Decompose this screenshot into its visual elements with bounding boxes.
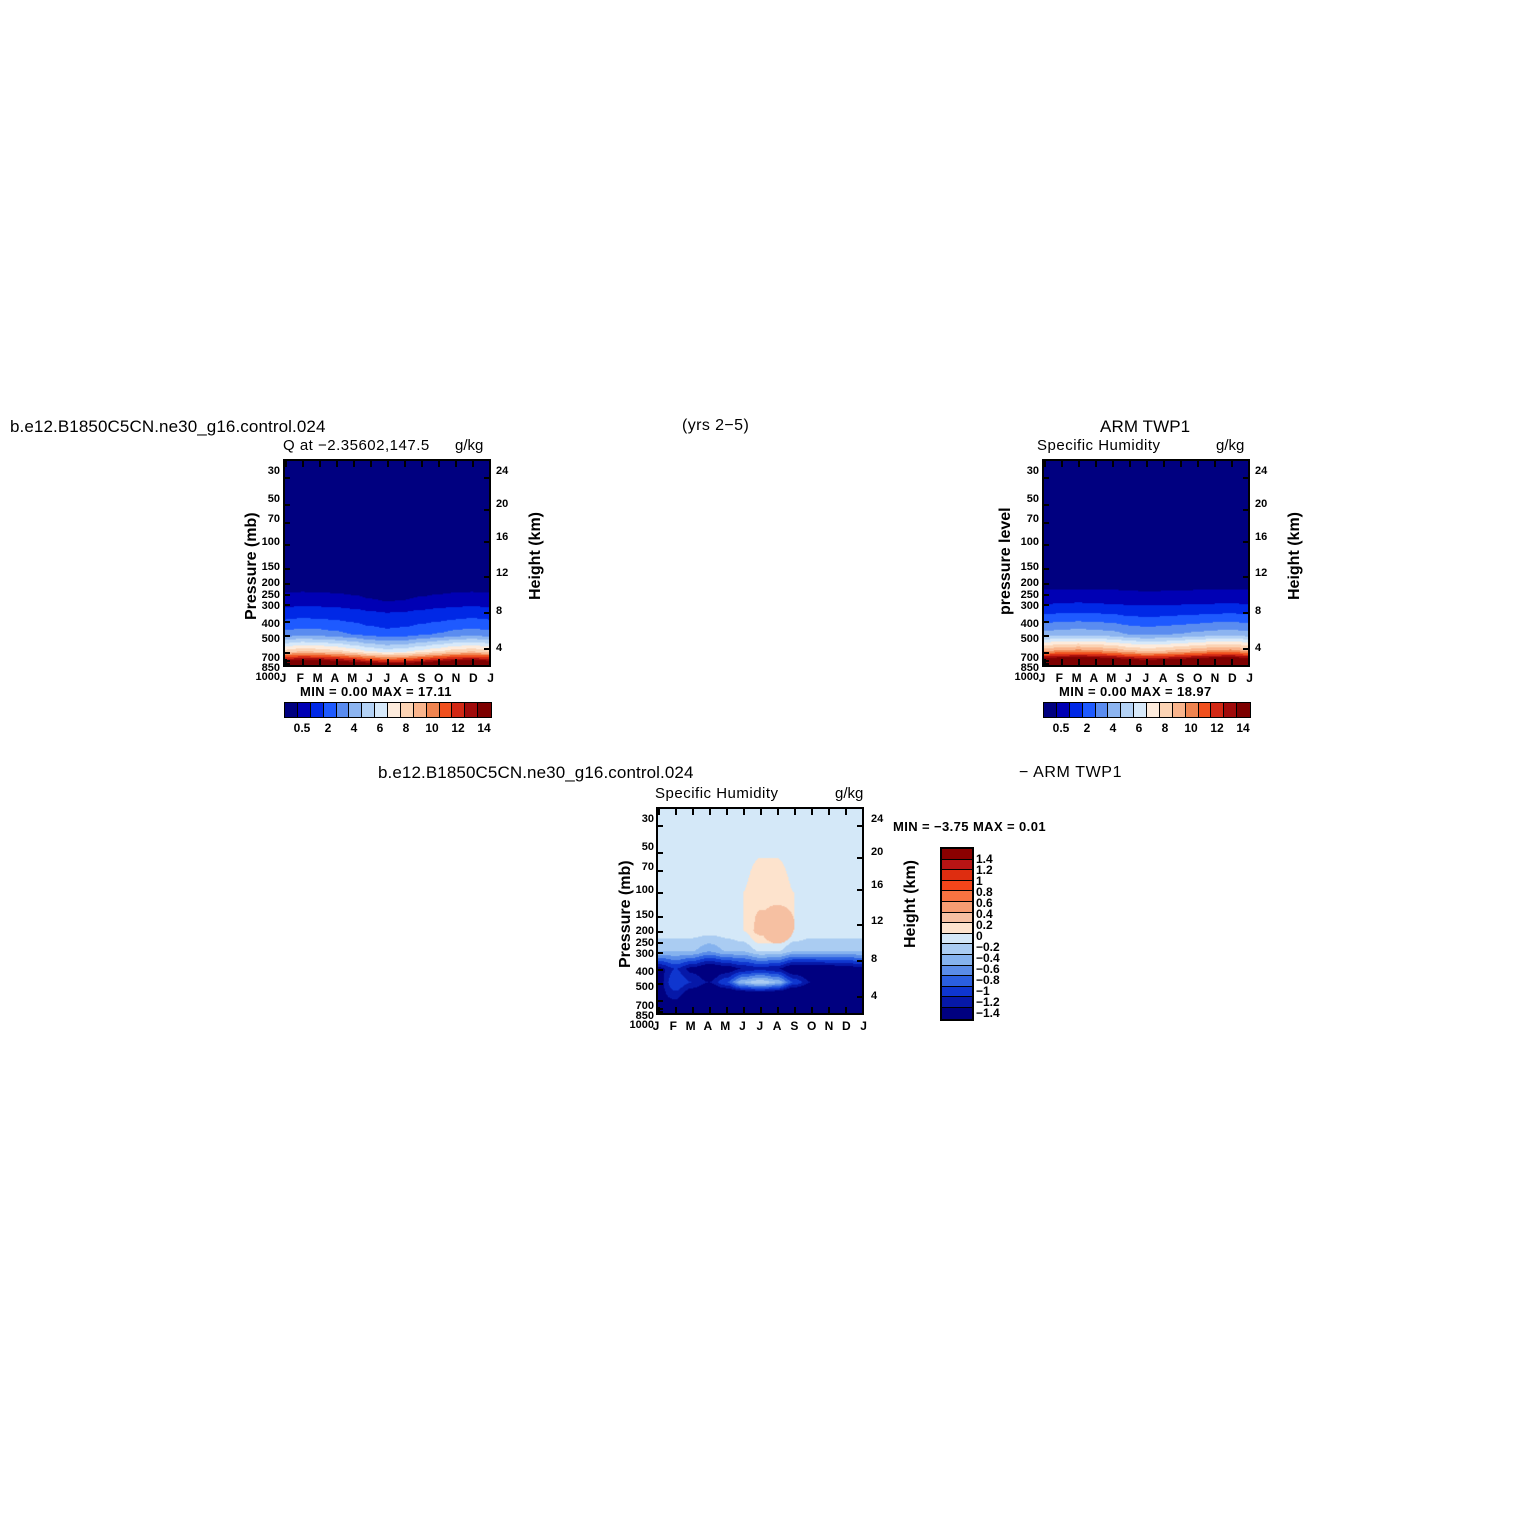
axis-tick-mark — [828, 809, 830, 815]
axis-tick: 100 — [636, 884, 654, 896]
axis-tick-mark — [1129, 659, 1131, 665]
axis-tick-mark — [455, 461, 457, 467]
axis-tick-mark — [845, 809, 847, 815]
colorbar-swatch — [478, 703, 491, 717]
axis-tick-mark — [675, 1007, 677, 1013]
month-label: F — [667, 1019, 679, 1033]
axis-tick-mark — [658, 809, 660, 815]
axis-tick-mark — [1044, 504, 1049, 506]
colorbar-swatch — [1211, 703, 1224, 717]
axis-tick: 24 — [496, 465, 508, 477]
axis-tick-mark — [1044, 663, 1049, 665]
axis-tick-mark — [285, 568, 290, 570]
month-label: J — [754, 1019, 766, 1033]
axis-tick-mark — [726, 1007, 728, 1013]
axis-tick: 20 — [871, 846, 883, 858]
obs-contour-canvas — [1044, 461, 1248, 665]
obs-minmax-text: MIN = 0.00 MAX = 18.97 — [1059, 684, 1212, 699]
axis-tick-mark — [1044, 652, 1049, 654]
axis-tick: 150 — [262, 561, 280, 573]
colorbar-swatch — [942, 944, 972, 955]
axis-tick-mark — [857, 825, 862, 827]
axis-tick-mark — [1243, 541, 1248, 543]
cbar-tick: 0.5 — [1049, 721, 1073, 735]
axis-tick-mark — [658, 1008, 663, 1010]
axis-tick-mark — [1044, 635, 1049, 637]
axis-tick: 50 — [268, 493, 280, 505]
diff-field-title: Specific Humidity — [655, 785, 779, 802]
diff-colorbar[interactable] — [940, 847, 974, 1021]
colorbar-swatch — [440, 703, 453, 717]
cbar-tick: 6 — [1127, 721, 1151, 735]
month-label: A — [1088, 671, 1100, 685]
month-label: A — [329, 671, 341, 685]
axis-tick: 500 — [636, 981, 654, 993]
colorbar-swatch — [1070, 703, 1083, 717]
axis-tick-mark — [484, 477, 489, 479]
axis-tick-mark — [845, 1007, 847, 1013]
colorbar-swatch — [427, 703, 440, 717]
colorbar-swatch — [942, 955, 972, 966]
axis-tick-mark — [285, 583, 290, 585]
axis-tick-mark — [438, 659, 440, 665]
axis-tick-mark — [692, 809, 694, 815]
axis-tick-mark — [1044, 461, 1046, 467]
colorbar-swatch — [1057, 703, 1070, 717]
month-label: J — [650, 1019, 662, 1033]
axis-tick: 30 — [1027, 465, 1039, 477]
axis-tick-mark — [794, 1007, 796, 1013]
axis-tick: 300 — [636, 948, 654, 960]
axis-tick-mark — [1197, 461, 1199, 467]
cbar-tick: 10 — [1179, 721, 1203, 735]
axis-tick-mark — [387, 659, 389, 665]
colorbar-swatch — [375, 703, 388, 717]
cbar-tick: 10 — [420, 721, 444, 735]
axis-tick-mark — [857, 960, 862, 962]
cbar-tick: 2 — [1075, 721, 1099, 735]
axis-tick-mark — [353, 659, 355, 665]
month-label: J — [364, 671, 376, 685]
axis-tick-mark — [857, 924, 862, 926]
month-label: A — [771, 1019, 783, 1033]
month-label: J — [381, 671, 393, 685]
cbar-tick: 6 — [368, 721, 392, 735]
month-label: O — [1192, 671, 1204, 685]
cbar-tick: 14 — [1231, 721, 1255, 735]
cbar-tick: 2 — [316, 721, 340, 735]
model-colorbar[interactable] — [284, 702, 492, 718]
model-height-axis: 24 20 16 12 8 4 — [496, 455, 526, 670]
cbar-tick: 4 — [342, 721, 366, 735]
axis-tick-mark — [336, 461, 338, 467]
axis-tick-mark — [1112, 659, 1114, 665]
colorbar-swatch — [337, 703, 350, 717]
axis-tick-mark — [1214, 659, 1216, 665]
axis-tick: 12 — [496, 567, 508, 579]
axis-tick-mark — [658, 942, 663, 944]
diff-height-axis: 24 20 16 12 8 4 — [871, 803, 901, 1018]
axis-tick-mark — [1248, 659, 1250, 665]
axis-tick-mark — [302, 461, 304, 467]
axis-tick-mark — [658, 1000, 663, 1002]
axis-tick-mark — [404, 659, 406, 665]
colorbar-swatch — [942, 881, 972, 892]
axis-tick-mark — [285, 635, 290, 637]
axis-tick-mark — [370, 461, 372, 467]
month-label: J — [1036, 671, 1048, 685]
axis-tick-mark — [484, 509, 489, 511]
colorbar-swatch — [452, 703, 465, 717]
axis-tick: 400 — [262, 618, 280, 630]
colorbar-swatch — [1121, 703, 1134, 717]
cbar-tick: 8 — [394, 721, 418, 735]
cbar-tick: 14 — [472, 721, 496, 735]
axis-tick-mark — [285, 461, 287, 467]
axis-tick-mark — [1061, 461, 1063, 467]
axis-tick: 100 — [262, 536, 280, 548]
colorbar-swatch — [362, 703, 375, 717]
axis-tick-mark — [1243, 576, 1248, 578]
axis-tick-mark — [285, 604, 290, 606]
model-units-label: g/kg — [455, 437, 483, 454]
axis-tick: 200 — [262, 577, 280, 589]
diff-plot-area[interactable] — [656, 807, 864, 1015]
axis-tick: 50 — [1027, 493, 1039, 505]
axis-tick-mark — [285, 652, 290, 654]
axis-tick: 30 — [268, 465, 280, 477]
diff-contour-canvas — [658, 809, 862, 1013]
month-label: O — [433, 671, 445, 685]
colorbar-swatch — [942, 870, 972, 881]
colorbar-swatch — [1160, 703, 1173, 717]
month-label: A — [398, 671, 410, 685]
obs-plot-area[interactable] — [1042, 459, 1250, 667]
model-ylabel-right: Height (km) — [527, 512, 545, 600]
axis-tick: 200 — [636, 925, 654, 937]
model-contour-canvas — [285, 461, 489, 665]
axis-tick-mark — [1044, 583, 1049, 585]
axis-tick-mark — [421, 461, 423, 467]
month-label: A — [1157, 671, 1169, 685]
axis-tick-mark — [1129, 461, 1131, 467]
axis-tick-mark — [285, 477, 290, 479]
colorbar-swatch — [311, 703, 324, 717]
axis-tick-mark — [1044, 522, 1049, 524]
axis-tick-mark — [857, 996, 862, 998]
axis-tick: 300 — [1021, 600, 1039, 612]
axis-tick-mark — [658, 852, 663, 854]
month-label: S — [415, 671, 427, 685]
axis-tick: 8 — [496, 605, 502, 617]
axis-tick-mark — [472, 659, 474, 665]
colorbar-swatch — [1147, 703, 1160, 717]
axis-tick-mark — [1243, 648, 1248, 650]
model-case-title: b.e12.B1850C5CN.ne30_g16.control.024 — [10, 417, 326, 437]
diff-units-label: g/kg — [835, 785, 863, 802]
axis-tick-mark — [370, 659, 372, 665]
month-label: M — [1105, 671, 1117, 685]
axis-tick-mark — [743, 1007, 745, 1013]
colorbar-swatch — [1237, 703, 1250, 717]
axis-tick-mark — [658, 1011, 663, 1013]
month-label: D — [840, 1019, 852, 1033]
axis-tick-mark — [1044, 621, 1049, 623]
axis-tick: 500 — [262, 633, 280, 645]
axis-tick-mark — [489, 461, 491, 467]
axis-tick-mark — [658, 931, 663, 933]
axis-tick: 12 — [871, 915, 883, 927]
axis-tick: 400 — [1021, 618, 1039, 630]
axis-tick-mark — [336, 659, 338, 665]
colorbar-swatch — [285, 703, 298, 717]
month-label: J — [1244, 671, 1256, 685]
axis-tick-mark — [658, 892, 663, 894]
axis-tick: 24 — [1255, 465, 1267, 477]
colorbar-swatch — [1134, 703, 1147, 717]
axis-tick-mark — [777, 809, 779, 815]
month-label: M — [685, 1019, 697, 1033]
axis-tick-mark — [760, 1007, 762, 1013]
axis-tick-mark — [1180, 461, 1182, 467]
axis-tick: 16 — [871, 879, 883, 891]
obs-colorbar[interactable] — [1043, 702, 1251, 718]
cbar-tick: 0.5 — [290, 721, 314, 735]
colorbar-swatch — [465, 703, 478, 717]
axis-tick: 16 — [1255, 531, 1267, 543]
axis-tick-mark — [455, 659, 457, 665]
month-label: J — [1140, 671, 1152, 685]
colorbar-swatch — [942, 934, 972, 945]
axis-tick-mark — [862, 1007, 864, 1013]
axis-tick-mark — [857, 889, 862, 891]
axis-tick: 4 — [496, 642, 502, 654]
axis-tick-mark — [1197, 659, 1199, 665]
axis-tick-mark — [828, 1007, 830, 1013]
axis-tick-mark — [1248, 461, 1250, 467]
axis-tick-mark — [1231, 461, 1233, 467]
model-field-title: Q at −2.35602,147.5 — [283, 437, 430, 454]
colorbar-swatch — [1199, 703, 1212, 717]
axis-tick: 500 — [1021, 633, 1039, 645]
axis-tick-mark — [1180, 659, 1182, 665]
model-pressure-axis: 30 50 70 100 150 200 250 300 400 500 700… — [248, 455, 280, 670]
axis-tick: 8 — [871, 953, 877, 965]
diff-case-title: b.e12.B1850C5CN.ne30_g16.control.024 — [378, 763, 694, 783]
colorbar-swatch — [1083, 703, 1096, 717]
axis-tick-mark — [811, 809, 813, 815]
axis-tick-mark — [658, 870, 663, 872]
axis-tick: 4 — [1255, 642, 1261, 654]
colorbar-swatch — [1096, 703, 1109, 717]
month-label: N — [1209, 671, 1221, 685]
diff-pressure-axis: 30 50 70 100 150 200 250 300 400 500 700… — [622, 803, 654, 1018]
axis-tick-mark — [726, 809, 728, 815]
axis-tick-mark — [709, 809, 711, 815]
axis-tick-mark — [658, 969, 663, 971]
month-label: S — [1174, 671, 1186, 685]
axis-tick-mark — [1112, 461, 1114, 467]
cbar-tick: 8 — [1153, 721, 1177, 735]
axis-tick-mark — [285, 621, 290, 623]
month-label: N — [450, 671, 462, 685]
month-label: M — [346, 671, 358, 685]
axis-tick-mark — [658, 825, 663, 827]
month-label: A — [702, 1019, 714, 1033]
axis-tick-mark — [319, 659, 321, 665]
month-label: J — [1123, 671, 1135, 685]
month-label: S — [788, 1019, 800, 1033]
axis-tick-mark — [862, 809, 864, 815]
diff-ylabel-right: Height (km) — [902, 860, 920, 948]
axis-tick: 50 — [642, 841, 654, 853]
axis-tick-mark — [285, 660, 290, 662]
axis-tick-mark — [285, 544, 290, 546]
cbar-tick: 12 — [1205, 721, 1229, 735]
cbar-tick: 12 — [446, 721, 470, 735]
month-label: F — [294, 671, 306, 685]
axis-tick: 16 — [496, 531, 508, 543]
cbar-tick: 4 — [1101, 721, 1125, 735]
axis-tick-mark — [1146, 659, 1148, 665]
axis-tick-mark — [421, 659, 423, 665]
axis-tick-mark — [1163, 659, 1165, 665]
axis-tick-mark — [387, 461, 389, 467]
colorbar-swatch — [1173, 703, 1186, 717]
month-label: M — [1071, 671, 1083, 685]
axis-tick-mark — [658, 916, 663, 918]
axis-tick: 400 — [636, 966, 654, 978]
axis-tick-mark — [1044, 660, 1049, 662]
axis-tick-mark — [1243, 509, 1248, 511]
colorbar-swatch — [942, 913, 972, 924]
colorbar-swatch — [1108, 703, 1121, 717]
month-label: N — [823, 1019, 835, 1033]
colorbar-swatch — [349, 703, 362, 717]
axis-tick-mark — [302, 659, 304, 665]
axis-tick-mark — [1044, 477, 1049, 479]
axis-tick: 70 — [268, 513, 280, 525]
axis-tick-mark — [484, 648, 489, 650]
axis-tick-mark — [811, 1007, 813, 1013]
axis-tick-mark — [472, 461, 474, 467]
model-minmax-text: MIN = 0.00 MAX = 17.11 — [300, 684, 452, 699]
axis-tick-mark — [675, 809, 677, 815]
axis-tick-mark — [319, 461, 321, 467]
axis-tick: 30 — [642, 813, 654, 825]
axis-tick-mark — [1061, 659, 1063, 665]
vcbar-tick: −1.4 — [976, 1006, 1000, 1020]
colorbar-swatch — [942, 997, 972, 1008]
month-label: M — [719, 1019, 731, 1033]
axis-tick-mark — [658, 952, 663, 954]
colorbar-swatch — [942, 860, 972, 871]
axis-tick-mark — [1231, 659, 1233, 665]
colorbar-swatch — [1044, 703, 1057, 717]
colorbar-swatch — [942, 902, 972, 913]
axis-tick-mark — [658, 983, 663, 985]
axis-tick-mark — [743, 809, 745, 815]
month-label: J — [485, 671, 497, 685]
month-label: J — [858, 1019, 870, 1033]
axis-tick-mark — [285, 504, 290, 506]
axis-tick-mark — [285, 522, 290, 524]
colorbar-swatch — [388, 703, 401, 717]
month-label: D — [1226, 671, 1238, 685]
month-label: F — [1053, 671, 1065, 685]
axis-tick: 70 — [642, 861, 654, 873]
axis-tick: 70 — [1027, 513, 1039, 525]
model-plot-area[interactable] — [283, 459, 491, 667]
obs-units-label: g/kg — [1216, 437, 1244, 454]
month-label: J — [737, 1019, 749, 1033]
axis-tick-mark — [285, 663, 290, 665]
axis-tick-mark — [1095, 659, 1097, 665]
axis-tick-mark — [484, 612, 489, 614]
axis-tick: 150 — [636, 909, 654, 921]
axis-tick-mark — [1044, 594, 1049, 596]
axis-tick: 12 — [1255, 567, 1267, 579]
axis-tick-mark — [857, 857, 862, 859]
axis-tick-mark — [484, 541, 489, 543]
axis-tick-mark — [760, 809, 762, 815]
axis-tick-mark — [777, 1007, 779, 1013]
axis-tick-mark — [484, 576, 489, 578]
axis-tick-mark — [1095, 461, 1097, 467]
axis-tick-mark — [438, 461, 440, 467]
month-label: J — [277, 671, 289, 685]
colorbar-swatch — [1186, 703, 1199, 717]
obs-field-title: Specific Humidity — [1037, 437, 1161, 454]
colorbar-swatch — [298, 703, 311, 717]
axis-tick-mark — [1146, 461, 1148, 467]
axis-tick: 300 — [262, 600, 280, 612]
axis-tick-mark — [1163, 461, 1165, 467]
axis-tick-mark — [1078, 461, 1080, 467]
colorbar-swatch — [414, 703, 427, 717]
axis-tick-mark — [1243, 477, 1248, 479]
years-note: (yrs 2−5) — [682, 417, 749, 435]
axis-tick-mark — [404, 461, 406, 467]
axis-tick-mark — [794, 809, 796, 815]
axis-tick-mark — [709, 1007, 711, 1013]
diff-legend-title: − ARM TWP1 — [1019, 764, 1122, 782]
obs-height-axis: 24 20 16 12 8 4 — [1255, 455, 1285, 670]
axis-tick: 200 — [1021, 577, 1039, 589]
colorbar-swatch — [942, 976, 972, 987]
colorbar-swatch — [1224, 703, 1237, 717]
colorbar-swatch — [942, 923, 972, 934]
axis-tick-mark — [489, 659, 491, 665]
colorbar-swatch — [942, 966, 972, 977]
colorbar-swatch — [401, 703, 414, 717]
diff-minmax-text: MIN = −3.75 MAX = 0.01 — [893, 819, 1046, 834]
obs-ylabel-right: Height (km) — [1286, 512, 1304, 600]
axis-tick: 100 — [1021, 536, 1039, 548]
axis-tick-mark — [1078, 659, 1080, 665]
axis-tick-mark — [1044, 568, 1049, 570]
axis-tick-mark — [1243, 612, 1248, 614]
month-label: D — [467, 671, 479, 685]
axis-tick-mark — [692, 1007, 694, 1013]
axis-tick: 150 — [1021, 561, 1039, 573]
month-label: M — [312, 671, 324, 685]
axis-tick: 4 — [871, 990, 877, 1002]
month-label: O — [806, 1019, 818, 1033]
obs-case-title: ARM TWP1 — [1100, 417, 1190, 437]
colorbar-swatch — [324, 703, 337, 717]
axis-tick: 8 — [1255, 605, 1261, 617]
